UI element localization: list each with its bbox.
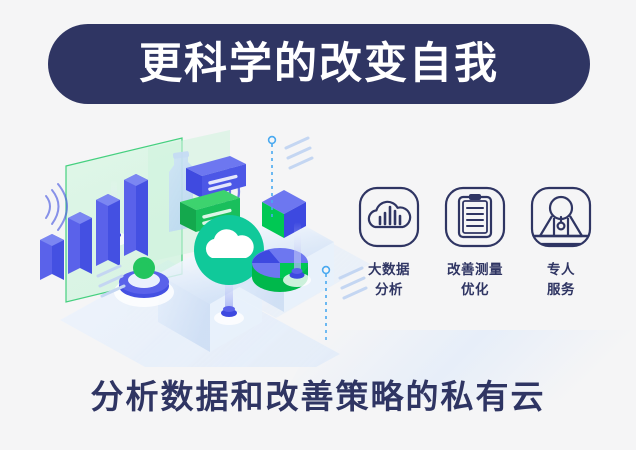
page-title: 更科学的改变自我 (139, 43, 499, 86)
page-subtitle: 分析数据和改善策略的私有云 (0, 380, 636, 413)
feature-label-line1: 专人 (522, 260, 600, 280)
feature-item-measurement[interactable]: 改善测量 优化 (436, 186, 514, 299)
feature-label-line2: 分析 (350, 280, 428, 300)
feature-label-support: 专人 服务 (522, 260, 600, 299)
cloud-chart-icon (358, 186, 420, 248)
feature-label-measurement: 改善测量 优化 (436, 260, 514, 299)
feature-label-line1: 大数据 (350, 260, 428, 280)
support-agent-icon (530, 186, 592, 248)
feature-label-line2: 服务 (522, 280, 600, 300)
hero-illustration (40, 122, 370, 367)
feature-item-support[interactable]: 专人 服务 (522, 186, 600, 299)
title-pill: 更科学的改变自我 (48, 24, 590, 104)
feature-item-big-data[interactable]: 大数据 分析 (350, 186, 428, 299)
promo-poster: 更科学的改变自我 (0, 0, 636, 450)
clipboard-icon (444, 186, 506, 248)
feature-label-line1: 改善测量 (436, 260, 514, 280)
feature-label-line2: 优化 (436, 280, 514, 300)
feature-label-big-data: 大数据 分析 (350, 260, 428, 299)
wifi-icon-secondary (46, 184, 67, 230)
feature-list: 大数据 分析 改善 (350, 186, 600, 331)
